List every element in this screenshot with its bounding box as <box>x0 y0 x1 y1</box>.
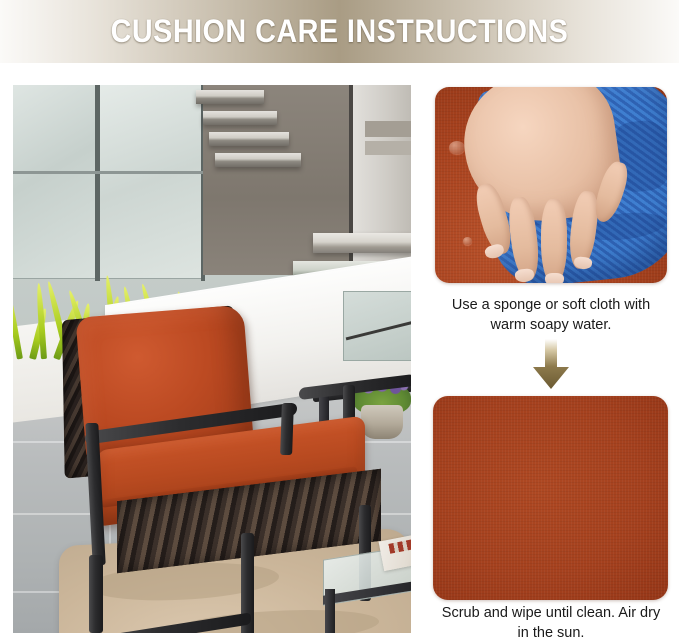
down-arrow-icon <box>531 339 571 389</box>
wall-recess <box>365 141 411 155</box>
chair-arm-rear-post <box>280 403 294 455</box>
step-1-image <box>435 87 667 283</box>
step-flow-arrow <box>435 338 667 390</box>
coffee-table-frame <box>325 589 335 633</box>
floating-stair-step <box>203 111 277 125</box>
floating-stair-step <box>209 132 289 146</box>
fingernail <box>545 273 564 283</box>
step-2-image <box>433 396 668 600</box>
floating-stair-step <box>215 153 301 167</box>
wall-recess <box>365 121 411 137</box>
floating-stair-step <box>313 233 411 253</box>
chair-front-left-leg <box>89 555 103 633</box>
hero-product-photo: EASY TO CLEAN <box>13 85 411 633</box>
window-glass-center <box>99 85 203 279</box>
fabric-texture <box>433 396 668 600</box>
window-glass-left <box>13 85 97 279</box>
finger <box>541 199 567 283</box>
infographic-page: CUSHION CARE INSTRUCTIONS <box>0 0 679 642</box>
patio-scene <box>13 85 411 633</box>
water-droplet <box>463 237 472 245</box>
stone-planter-pot <box>361 405 403 439</box>
window-mullion-vertical <box>95 85 100 281</box>
window-mullion-horizontal <box>13 171 205 174</box>
water-droplet <box>449 141 465 154</box>
header-banner: CUSHION CARE INSTRUCTIONS <box>0 0 679 63</box>
page-title: CUSHION CARE INSTRUCTIONS <box>34 0 645 63</box>
step-2-caption: Scrub and wipe until clean. Air dry in t… <box>435 604 667 642</box>
step-1-caption: Use a sponge or soft cloth with warm soa… <box>435 296 667 335</box>
floating-stair-step <box>196 90 264 104</box>
